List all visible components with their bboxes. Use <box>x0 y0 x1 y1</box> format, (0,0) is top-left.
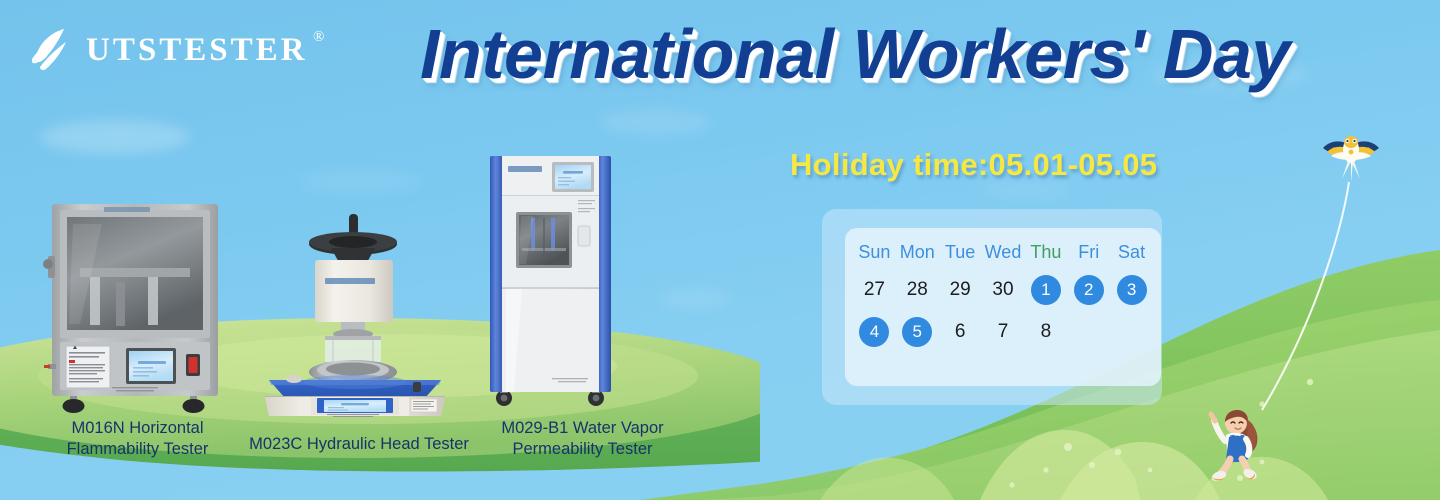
promo-banner: UTSTESTER® International Workers' Day Ho… <box>0 0 1440 500</box>
girl-flying-kite-icon <box>1203 405 1267 485</box>
kite-icon <box>1318 130 1384 184</box>
